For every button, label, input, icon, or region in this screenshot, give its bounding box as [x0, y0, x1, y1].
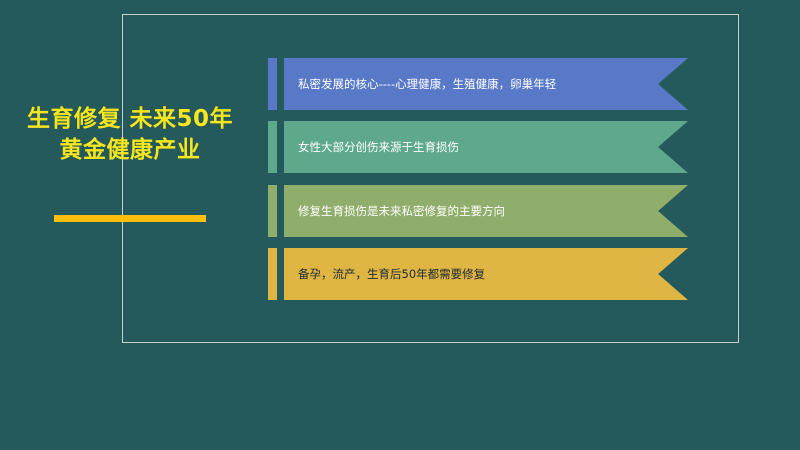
ribbon-label-3: 修复生育损伤是未来私密修复的主要方向: [298, 185, 505, 237]
ribbon-accent-bar-2: [268, 121, 277, 173]
page-title: 生育修复 未来50年黄金健康产业: [18, 104, 242, 166]
presentation-slide: 生育修复 未来50年黄金健康产业 私密发展的核心----心理健康，生殖健康，卵巢…: [0, 0, 800, 450]
ribbon-accent-bar-1: [268, 58, 277, 110]
ribbon-label-1: 私密发展的核心----心理健康，生殖健康，卵巢年轻: [298, 58, 556, 110]
ribbon-label-2: 女性大部分创伤来源于生育损伤: [298, 121, 459, 173]
ribbon-accent-bar-4: [268, 248, 277, 300]
title-underline-bar: [54, 215, 206, 222]
ribbon-accent-bar-3: [268, 185, 277, 237]
slide-title-block: 生育修复 未来50年黄金健康产业: [18, 104, 242, 166]
ribbon-label-4: 备孕，流产，生育后50年都需要修复: [298, 248, 485, 300]
